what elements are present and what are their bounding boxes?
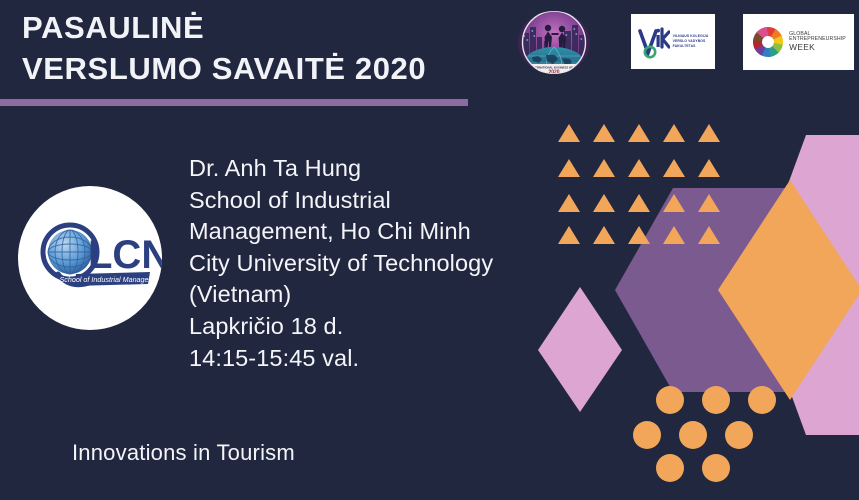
global-entrepreneurship-week-logo: GLOBAL ENTREPRENEURSHIP WEEK <box>743 14 854 70</box>
circle-cluster <box>633 386 776 482</box>
speaker-affiliation-line-3: City University of Technology <box>189 248 539 280</box>
page-title: PASAULINĖ VERSLUMO SAVAITĖ 2020 <box>22 8 542 90</box>
orange-diamond-shape <box>718 180 859 400</box>
speaker-name: Dr. Anh Ta Hung <box>189 153 539 185</box>
viko-mark-icon <box>638 25 670 59</box>
speaker-details: Dr. Anh Ta Hung School of Industrial Man… <box>189 153 539 374</box>
purple-hexagon-shape <box>615 188 848 392</box>
pink-diamond-shape <box>538 287 622 412</box>
pink-hexagon-shape <box>751 135 859 435</box>
viko-text-line-3: FAKULTETAS <box>673 44 709 49</box>
gew-color-ring-icon <box>751 25 785 59</box>
viko-logo: VILNIAUS KOLEGIJA VERSLO VADYBOS FAKULTE… <box>631 14 715 69</box>
triangle-grid <box>558 124 720 244</box>
event-poster: PASAULINĖ VERSLUMO SAVAITĖ 2020 <box>0 0 859 500</box>
lcn-tagline-text: School of Industrial Management <box>59 275 162 284</box>
event-time: 14:15-15:45 val. <box>189 343 539 375</box>
speaker-country: (Vietnam) <box>189 279 539 311</box>
title-line-2: VERSLUMO SAVAITĖ 2020 <box>22 49 542 90</box>
title-line-1: PASAULINĖ <box>22 8 542 49</box>
event-date: Lapkričio 18 d. <box>189 311 539 343</box>
speaker-affiliation-line-2: Management, Ho Chi Minh <box>189 216 539 248</box>
gew-logo-text: GLOBAL ENTREPRENEURSHIP WEEK <box>789 32 846 52</box>
talk-topic: Innovations in Tourism <box>72 440 295 466</box>
viko-logo-text: VILNIAUS KOLEGIJA VERSLO VADYBOS FAKULTE… <box>673 34 709 49</box>
gew-text-line-3: WEEK <box>789 43 846 52</box>
title-accent-bar <box>0 99 468 106</box>
lcn-school-of-industrial-management-logo: LCN School of Industrial Management <box>18 186 162 330</box>
international-business-week-badge: INTERNATIONAL BUSINESS WEEK 2020 <box>518 11 590 74</box>
lcn-mark-text: LCN <box>88 233 162 277</box>
logo-strip: INTERNATIONAL BUSINESS WEEK 2020 VILNIA <box>518 6 854 72</box>
speaker-affiliation-line-1: School of Industrial <box>189 185 539 217</box>
